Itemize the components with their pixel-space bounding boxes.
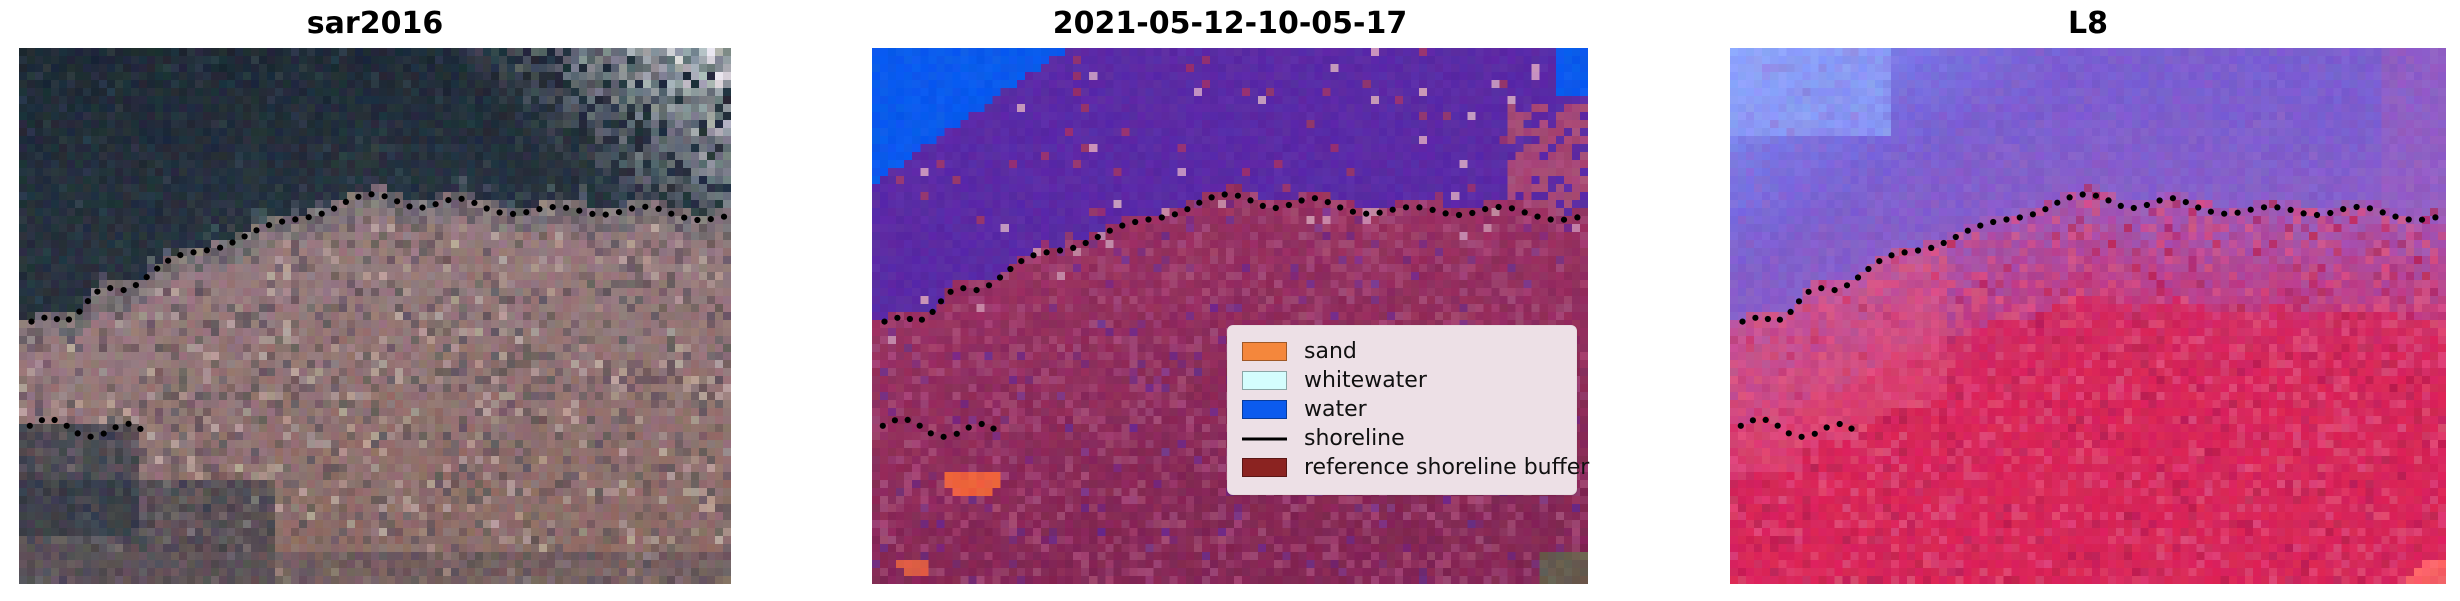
figure-root: sar2016 2021-05-12-10-05-17 L8 sandwhite… bbox=[0, 0, 2460, 601]
legend-label: shoreline bbox=[1304, 428, 1405, 450]
panel-title-sar2016: sar2016 bbox=[19, 6, 731, 41]
legend-label: reference shoreline buffer bbox=[1304, 457, 1589, 479]
satellite-image-sar2016 bbox=[19, 48, 731, 584]
legend-swatch-water bbox=[1242, 400, 1287, 419]
legend-label: sand bbox=[1304, 341, 1357, 363]
legend-label: water bbox=[1304, 399, 1367, 421]
legend-swatch-line-shoreline bbox=[1242, 429, 1287, 448]
legend-label: whitewater bbox=[1304, 370, 1427, 392]
panel-title-classification: 2021-05-12-10-05-17 bbox=[872, 6, 1588, 41]
legend-swatch-reference shoreline buffer bbox=[1242, 458, 1287, 477]
legend-swatch-whitewater bbox=[1242, 371, 1287, 390]
panel-l8: L8 bbox=[1730, 48, 2446, 584]
legend-item-sand: sand bbox=[1242, 337, 1562, 366]
legend-item-reference: reference shoreline buffer bbox=[1242, 453, 1562, 482]
legend-item-whitewater: whitewater bbox=[1242, 366, 1562, 395]
legend-box: sandwhitewaterwatershorelinereference sh… bbox=[1227, 325, 1577, 495]
satellite-image-l8 bbox=[1730, 48, 2446, 584]
legend-item-shoreline: shoreline bbox=[1242, 424, 1562, 453]
legend-item-water: water bbox=[1242, 395, 1562, 424]
legend-swatch-sand bbox=[1242, 342, 1287, 361]
panel-sar2016: sar2016 bbox=[19, 48, 731, 584]
classification-image bbox=[872, 48, 1588, 584]
panel-title-l8: L8 bbox=[1730, 6, 2446, 41]
panel-classification: 2021-05-12-10-05-17 bbox=[872, 48, 1588, 584]
